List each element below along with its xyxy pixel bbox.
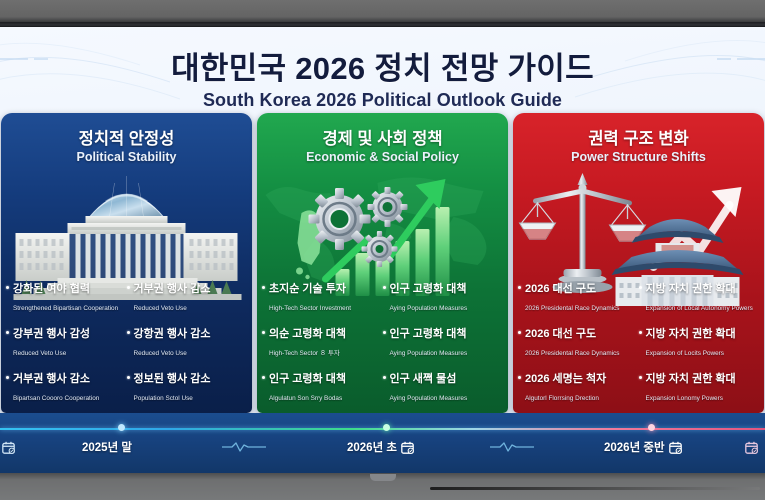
list-item[interactable]: 지방 자치 권한 확대 Expansion Lonomy Powers [639,369,760,405]
bullet-english: 2026 Presidental Race Dynamics [525,350,620,357]
list-item[interactable]: 2026 세명는 척자 Algutorl Florrsing Drection [518,369,639,405]
list-item[interactable]: 강화된 여야 협력 Strengthened Bipartisan Cooper… [6,279,127,315]
panel-bullet-list: 초지순 기술 투자 High-Tech Sector Investment 의순… [257,279,508,405]
list-item[interactable]: 의순 고령화 대책 High-Tech Sector ８ 투자 [262,324,383,360]
bullet-dot-icon [518,376,521,379]
panel-title-english: Political Stability [1,150,252,164]
list-item[interactable]: 거부권 행사 감소 Reduced Veto Use [127,279,248,315]
bullet-korean: 강화된 여야 협력 [13,283,90,295]
bullet-dot-icon [6,376,9,379]
list-item[interactable]: 거부권 행사 감소 Bipartsan Coooro Cooperation [6,369,127,405]
panel-row: 정치적 안정성 Political Stability [0,113,765,413]
bullet-english: High-Tech Sector ８ 투자 [269,350,340,357]
bullet-column-1: 2026 대선 구도 2026 Presidental Race Dynamic… [518,279,639,405]
timeline-bar: 2025년 말 2026년 초 2026년 [0,413,765,473]
bullet-korean: 거부권 행사 감소 [134,283,211,295]
bullet-dot-icon [262,331,265,334]
bullet-english: 2026 Presidental Race Dynamics [525,305,620,312]
panel-political-stability[interactable]: 정치적 안정성 Political Stability [1,113,252,413]
bullet-dot-icon [383,331,386,334]
timeline-milestone-label: 2026년 중반 [604,439,665,455]
monitor-bezel-top [0,0,765,24]
bullet-english: Algulatun Son Srry Bodas [269,395,342,402]
timeline-node-1[interactable] [118,424,125,431]
bullet-korean: 지방 자치 권한 확대 [646,328,736,340]
bullet-dot-icon [639,286,642,289]
calendar-icon [401,441,414,454]
bullet-dot-icon [6,286,9,289]
bullet-column-1: 초지순 기술 투자 High-Tech Sector Investment 의순… [262,279,383,405]
pulse-line-icon [222,441,266,453]
bullet-english: Population Sctol Use [134,395,193,402]
list-item[interactable]: 인구 고령화 대책 Aying Population Measures [383,324,504,360]
bullet-korean: 인구 새쪅 물섬 [390,373,457,385]
bullet-column-2: 인구 고령화 대책 Aying Population Measures 인구 고… [383,279,504,405]
monitor-stand-notch [370,474,396,481]
bullet-korean: 2026 대선 구도 [525,283,596,295]
bullet-dot-icon [518,331,521,334]
bullet-dot-icon [6,331,9,334]
panel-power-structure-shifts[interactable]: 권력 구조 변화 Power Structure Shifts [513,113,764,413]
bullet-dot-icon [639,376,642,379]
list-item[interactable]: 2026 대선 구도 2026 Presidental Race Dynamic… [518,324,639,360]
list-item[interactable]: 인구 고령화 대책 Algulatun Son Srry Bodas [262,369,383,405]
list-item[interactable]: 인구 새쪅 물섬 Aying Population Measures [383,369,504,405]
pulse-line-icon [490,441,534,453]
slide-canvas: 대한민국 2026 정치 전망 가이드 South Korea 2026 Pol… [0,27,765,473]
bullet-english: Strengthened Bipartisan Cooperation [13,305,118,312]
bullet-korean: 강항권 행사 감소 [134,328,211,340]
page-title-english: South Korea 2026 Political Outlook Guide [0,90,765,111]
bullet-korean: 2026 세명는 척자 [525,373,606,385]
bullet-dot-icon [127,331,130,334]
list-item[interactable]: 정보된 행사 감소 Population Sctol Use [127,369,248,405]
bullet-korean: 강부권 행사 감성 [13,328,90,340]
calendar-icon [745,441,758,454]
bullet-column-2: 거부권 행사 감소 Reduced Veto Use 강항권 행사 감소 Red… [127,279,248,405]
bullet-korean: 의순 고령화 대책 [269,328,346,340]
list-item[interactable]: 지방 자치 권한 확대 Expansion of Local Autonomy … [639,279,760,315]
panel-header: 권력 구조 변화 Power Structure Shifts [513,113,764,164]
bullet-dot-icon [383,376,386,379]
monitor-bezel-highlight [430,487,760,490]
timeline-milestone-1[interactable]: 2025년 말 [82,439,132,455]
panel-title-korean: 경제 및 사회 정책 [257,125,508,149]
timeline-milestone-2[interactable]: 2026년 초 [347,439,414,455]
bullet-column-2: 지방 자치 권한 확대 Expansion of Local Autonomy … [639,279,760,405]
list-item[interactable]: 인구 고령화 대책 Aying Population Measures [383,279,504,315]
bullet-dot-icon [383,286,386,289]
bullet-korean: 거부권 행사 감소 [13,373,90,385]
timeline-milestone-label: 2025년 말 [82,439,132,455]
calendar-icon [2,441,15,454]
bullet-korean: 인구 고령화 대책 [390,328,467,340]
list-item[interactable]: 2026 대선 구도 2026 Presidental Race Dynamic… [518,279,639,315]
bullet-dot-icon [262,286,265,289]
panel-bullet-list: 강화된 여야 협력 Strengthened Bipartisan Cooper… [1,279,252,405]
bullet-dot-icon [639,331,642,334]
bullet-english: Expansion Lonomy Powers [646,395,723,402]
page-title-korean: 대한민국 2026 정치 전망 가이드 [0,43,765,88]
list-item[interactable]: 강항권 행사 감소 Reduced Veto Use [127,324,248,360]
bullet-korean: 초지순 기술 투자 [269,283,346,295]
bullet-korean: 지방 자치 권한 확대 [646,373,736,385]
bullet-dot-icon [262,376,265,379]
panel-title-english: Economic & Social Policy [257,150,508,164]
timeline-node-2[interactable] [383,424,390,431]
bullet-dot-icon [518,286,521,289]
bullet-english: Expansion of Locits Powers [646,350,725,357]
timeline-milestone-label: 2026년 초 [347,439,397,455]
bullet-english: Reduced Veto Use [134,350,187,357]
bullet-english: Aying Population Measures [390,305,468,312]
bullet-english: Reduced Veto Use [13,350,66,357]
bullet-english: Aying Population Measures [390,395,468,402]
panel-economic-social-policy[interactable]: 경제 및 사회 정책 Economic & Social Policy [257,113,508,413]
list-item[interactable]: 강부권 행사 감성 Reduced Veto Use [6,324,127,360]
bullet-english: Reduced Veto Use [134,305,187,312]
slide-header: 대한민국 2026 정치 전망 가이드 South Korea 2026 Pol… [0,27,765,113]
list-item[interactable]: 지방 자치 권한 확대 Expansion of Locits Powers [639,324,760,360]
bullet-korean: 정보된 행사 감소 [134,373,211,385]
bullet-dot-icon [127,286,130,289]
bullet-korean: 지방 자치 권한 확대 [646,283,736,295]
bullet-english: Bipartsan Coooro Cooperation [13,395,99,402]
monitor-frame: 대한민국 2026 정치 전망 가이드 South Korea 2026 Pol… [0,0,765,500]
timeline-node-3[interactable] [648,424,655,431]
bullet-column-1: 강화된 여야 협력 Strengthened Bipartisan Cooper… [6,279,127,405]
panel-title-korean: 정치적 안정성 [1,125,252,149]
calendar-icon [669,441,682,454]
bullet-korean: 2026 대선 구도 [525,328,596,340]
bullet-english: Algutorl Florrsing Drection [525,395,599,402]
panel-bullet-list: 2026 대선 구도 2026 Presidental Race Dynamic… [513,279,764,405]
bullet-english: Aying Population Measures [390,350,468,357]
list-item[interactable]: 초지순 기술 투자 High-Tech Sector Investment [262,279,383,315]
panel-title-korean: 권력 구조 변화 [513,125,764,149]
bullet-english: Expansion of Local Autonomy Powers [646,305,753,312]
bullet-korean: 인구 고령화 대책 [269,373,346,385]
panel-title-english: Power Structure Shifts [513,150,764,164]
panel-header: 경제 및 사회 정책 Economic & Social Policy [257,113,508,164]
bullet-english: High-Tech Sector Investment [269,305,351,312]
timeline-milestone-3[interactable]: 2026년 중반 [604,439,682,455]
bullet-korean: 인구 고령화 대책 [390,283,467,295]
bullet-dot-icon [127,376,130,379]
panel-header: 정치적 안정성 Political Stability [1,113,252,164]
